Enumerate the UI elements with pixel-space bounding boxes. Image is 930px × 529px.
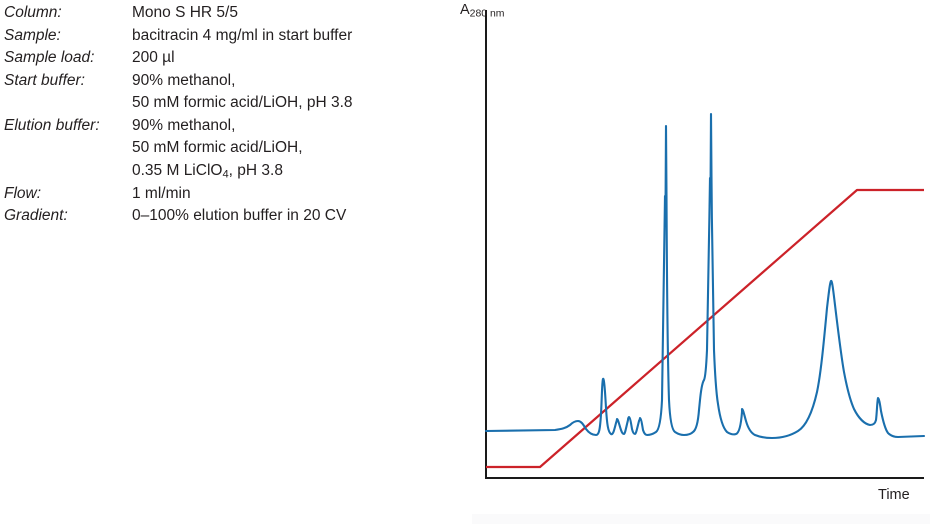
table-row: Elution buffer: 90% methanol,: [4, 115, 353, 138]
condition-value-elution-buffer-line3: 0.35 M LiClO4, pH 3.8: [132, 160, 353, 183]
chromatography-figure: Column: Mono S HR 5/5 Sample: bacitracin…: [0, 0, 930, 529]
condition-value-start-buffer: 90% methanol,: [132, 70, 353, 93]
condition-value-elution-buffer: 90% methanol,: [132, 115, 353, 138]
condition-label-elution-buffer: Elution buffer:: [4, 115, 132, 138]
table-row: 50 mM formic acid/LiOH,: [4, 137, 353, 160]
condition-label-gradient: Gradient:: [4, 205, 132, 228]
condition-value-sample-load: 200 µl: [132, 47, 353, 70]
y-axis-label-sub: 280 nm: [470, 8, 505, 19]
bottom-divider: [472, 514, 930, 524]
conditions-table: Column: Mono S HR 5/5 Sample: bacitracin…: [4, 2, 353, 228]
condition-value-gradient: 0–100% elution buffer in 20 CV: [132, 205, 353, 228]
table-row: 50 mM formic acid/LiOH, pH 3.8: [4, 92, 353, 115]
condition-value-sample: bacitracin 4 mg/ml in start buffer: [132, 25, 353, 48]
table-row: Start buffer: 90% methanol,: [4, 70, 353, 93]
condition-value-start-buffer-line2: 50 mM formic acid/LiOH, pH 3.8: [132, 92, 353, 115]
condition-value-column: Mono S HR 5/5: [132, 2, 353, 25]
condition-label-spacer-2: [4, 137, 132, 160]
condition-label-sample-load: Sample load:: [4, 47, 132, 70]
table-row: Sample: bacitracin 4 mg/ml in start buff…: [4, 25, 353, 48]
condition-label-column: Column:: [4, 2, 132, 25]
table-row: 0.35 M LiClO4, pH 3.8: [4, 160, 353, 183]
absorbance-trace: [486, 114, 924, 438]
chromatogram-svg: [450, 0, 930, 500]
y-axis-label: A280 nm: [460, 2, 505, 19]
plot-axes: [486, 10, 924, 478]
table-row: Gradient: 0–100% elution buffer in 20 CV: [4, 205, 353, 228]
condition-label-start-buffer: Start buffer:: [4, 70, 132, 93]
chromatogram-plot: A280 nm Time: [450, 0, 930, 529]
table-row: Column: Mono S HR 5/5: [4, 2, 353, 25]
condition-label-flow: Flow:: [4, 183, 132, 206]
y-axis-label-main: A: [460, 2, 470, 18]
method-conditions-block: Column: Mono S HR 5/5 Sample: bacitracin…: [4, 2, 434, 228]
table-row: Sample load: 200 µl: [4, 47, 353, 70]
condition-label-spacer-1: [4, 92, 132, 115]
condition-value-elution-buffer-line2: 50 mM formic acid/LiOH,: [132, 137, 353, 160]
x-axis-label: Time: [878, 487, 910, 503]
condition-label-spacer-3: [4, 160, 132, 183]
liclo4-suffix: , pH 3.8: [229, 162, 283, 179]
condition-label-sample: Sample:: [4, 25, 132, 48]
liclo4-prefix: 0.35 M LiClO: [132, 162, 222, 179]
gradient-line: [486, 190, 924, 467]
table-row: Flow: 1 ml/min: [4, 183, 353, 206]
condition-value-flow: 1 ml/min: [132, 183, 353, 206]
